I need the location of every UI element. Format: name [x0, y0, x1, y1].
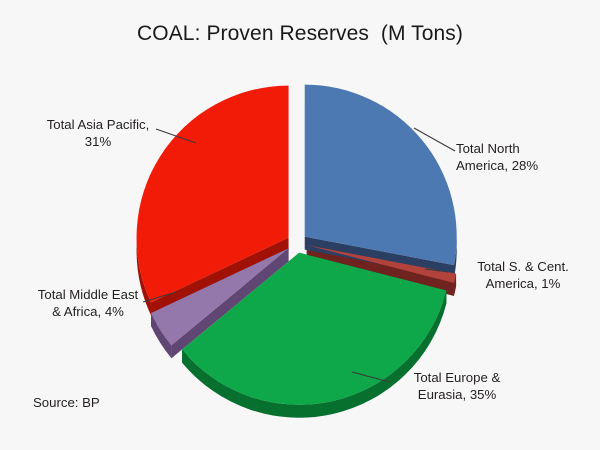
slice-label-europe-eurasia: Total Europe & Eurasia, 35% — [392, 370, 522, 403]
slice-label-north-america: Total North America, 28% — [456, 141, 592, 174]
slice-label-north-america-line2: America, 28% — [456, 158, 592, 175]
slice-label-south-central-america-line1: Total S. & Cent. — [452, 259, 594, 276]
pie-slice-group — [137, 85, 457, 418]
slice-label-north-america-line1: Total North — [456, 141, 592, 158]
slice-label-europe-eurasia-line1: Total Europe & — [392, 370, 522, 387]
pie-chart-figure: COAL: Proven Reserves (M Tons) Total Asi… — [0, 0, 600, 450]
slice-label-asia-pacific-line2: 31% — [28, 134, 168, 151]
slice-label-south-central-america-line2: America, 1% — [452, 276, 594, 293]
slice-label-asia-pacific: Total Asia Pacific, 31% — [28, 117, 168, 150]
slice-label-middle-east-africa-line2: & Africa, 4% — [14, 304, 162, 321]
slice-label-europe-eurasia-line2: Eurasia, 35% — [392, 387, 522, 404]
pie-slice-total-north-america[interactable] — [305, 85, 457, 265]
slice-label-asia-pacific-line1: Total Asia Pacific, — [28, 117, 168, 134]
slice-label-south-central-america: Total S. & Cent. America, 1% — [452, 259, 594, 292]
source-note: Source: BP — [33, 395, 100, 410]
slice-label-middle-east-africa: Total Middle East & Africa, 4% — [14, 287, 162, 320]
slice-label-middle-east-africa-line1: Total Middle East — [14, 287, 162, 304]
